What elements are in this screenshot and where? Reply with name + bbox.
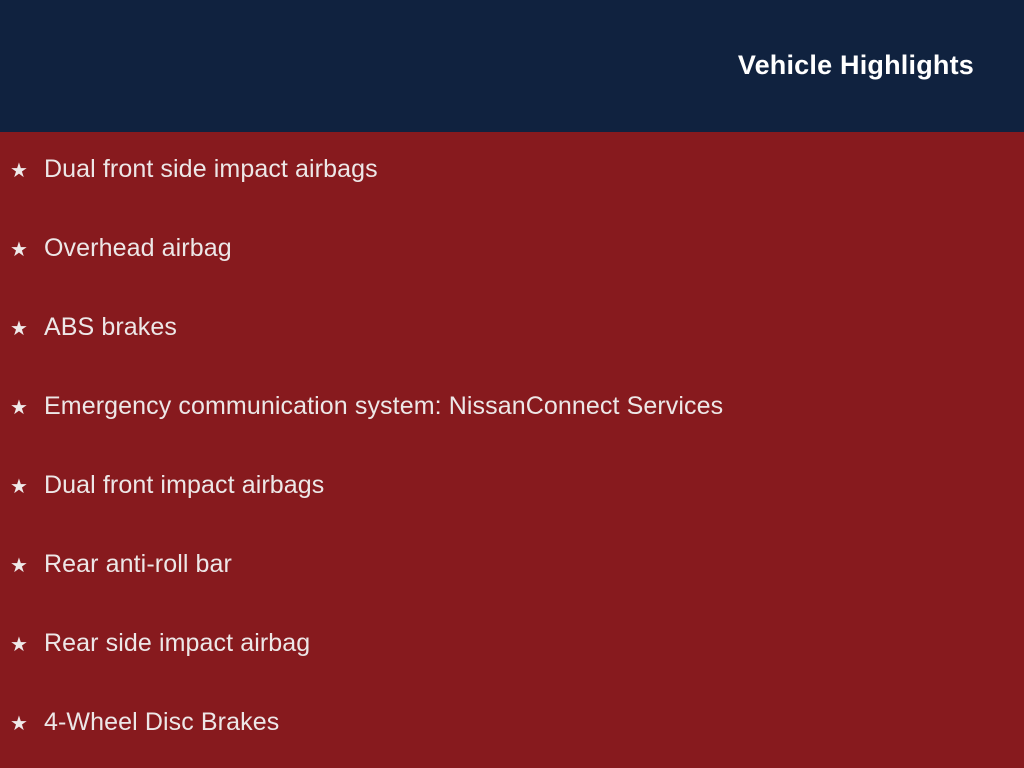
feature-label: Dual front impact airbags bbox=[44, 470, 324, 500]
feature-label: Dual front side impact airbags bbox=[44, 154, 378, 184]
star-bullet-icon: ★ bbox=[10, 714, 44, 734]
feature-label: Rear side impact airbag bbox=[44, 628, 310, 658]
feature-label: Rear anti-roll bar bbox=[44, 549, 232, 579]
list-item: ★ Rear side impact airbag bbox=[0, 628, 1024, 707]
list-item: ★ Dual front impact airbags bbox=[0, 470, 1024, 549]
list-item: ★ Rear anti-roll bar bbox=[0, 549, 1024, 628]
star-bullet-icon: ★ bbox=[10, 161, 44, 181]
list-item: ★ Emergency communication system: Nissan… bbox=[0, 391, 1024, 470]
list-item: ★ Overhead airbag bbox=[0, 233, 1024, 312]
star-bullet-icon: ★ bbox=[10, 398, 44, 418]
feature-label: Overhead airbag bbox=[44, 233, 232, 263]
vehicle-feature-list: ★ Dual front side impact airbags ★ Overh… bbox=[0, 154, 1024, 768]
vehicle-highlights-slide: Vehicle Highlights ★ Dual front side imp… bbox=[0, 0, 1024, 768]
list-item: ★ 4-Wheel Disc Brakes bbox=[0, 707, 1024, 768]
feature-label: 4-Wheel Disc Brakes bbox=[44, 707, 279, 737]
feature-label: ABS brakes bbox=[44, 312, 177, 342]
page-title: Vehicle Highlights bbox=[738, 51, 974, 81]
star-bullet-icon: ★ bbox=[10, 556, 44, 576]
star-bullet-icon: ★ bbox=[10, 319, 44, 339]
list-item: ★ Dual front side impact airbags bbox=[0, 154, 1024, 233]
feature-label: Emergency communication system: NissanCo… bbox=[44, 391, 723, 421]
list-item: ★ ABS brakes bbox=[0, 312, 1024, 391]
star-bullet-icon: ★ bbox=[10, 477, 44, 497]
slide-header: Vehicle Highlights bbox=[0, 0, 1024, 132]
star-bullet-icon: ★ bbox=[10, 635, 44, 655]
slide-body: ★ Dual front side impact airbags ★ Overh… bbox=[0, 132, 1024, 768]
star-bullet-icon: ★ bbox=[10, 240, 44, 260]
